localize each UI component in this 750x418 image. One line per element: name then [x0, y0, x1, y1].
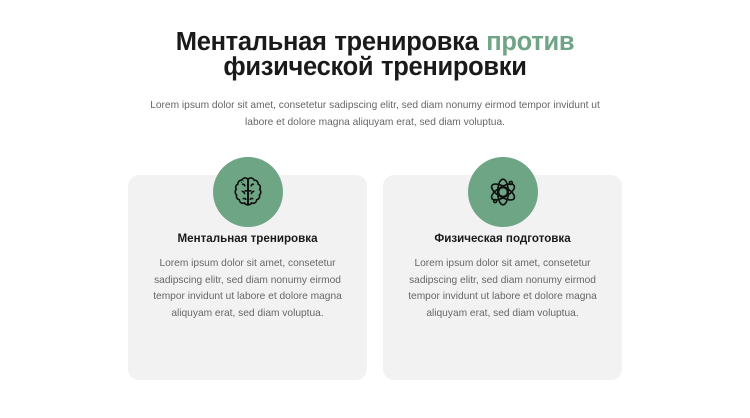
- atom-icon-circle: [468, 157, 538, 227]
- card-title-physical: Физическая подготовка: [434, 231, 570, 247]
- atom-icon: [483, 172, 523, 212]
- page-subtitle: Lorem ipsum dolor sit amet, consetetur s…: [150, 97, 600, 131]
- page-title-part2: физической тренировки: [223, 53, 526, 81]
- card-physical-training[interactable]: Физическая подготовка Lorem ipsum dolor …: [383, 157, 622, 380]
- page-title-part1: Ментальная тренировка: [176, 28, 487, 56]
- header-section: Ментальная тренировка противфизической т…: [0, 0, 750, 131]
- page-title: Ментальная тренировка противфизической т…: [105, 30, 645, 80]
- brain-icon: [228, 172, 268, 212]
- card-mental-training[interactable]: Ментальная тренировка Lorem ipsum dolor …: [128, 157, 367, 380]
- card-title-mental: Ментальная тренировка: [177, 231, 317, 247]
- card-text-mental: Lorem ipsum dolor sit amet, consetetur s…: [144, 256, 351, 322]
- brain-icon-circle: [213, 157, 283, 227]
- cards-container: Ментальная тренировка Lorem ipsum dolor …: [128, 157, 622, 380]
- page-root: Ментальная тренировка противфизической т…: [0, 0, 750, 418]
- page-title-accent: против: [486, 28, 574, 56]
- card-text-physical: Lorem ipsum dolor sit amet, consetetur s…: [399, 256, 606, 322]
